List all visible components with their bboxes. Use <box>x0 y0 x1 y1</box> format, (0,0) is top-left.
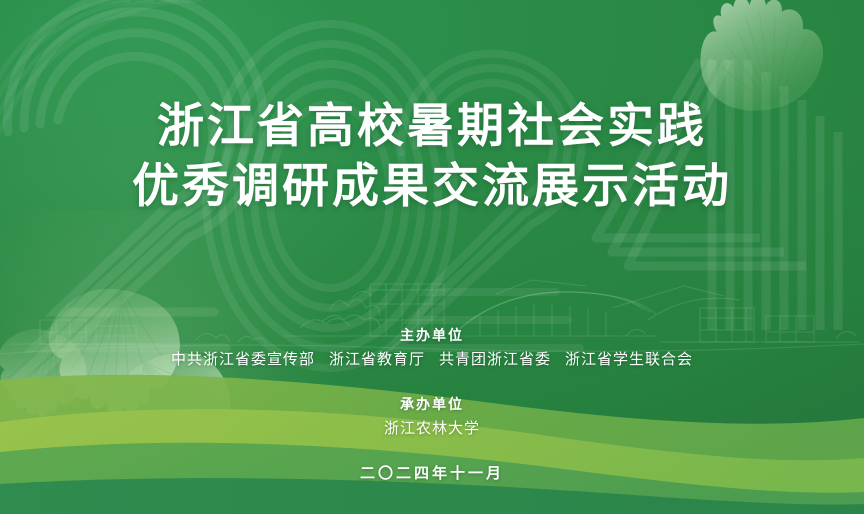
organizer-list: 中共浙江省委宣传部浙江省教育厅共青团浙江省委浙江省学生联合会 <box>0 348 864 372</box>
title-line-1: 浙江省高校暑期社会实践 <box>0 96 864 156</box>
poster-title: 浙江省高校暑期社会实践 优秀调研成果交流展示活动 <box>0 96 864 216</box>
organizer-item: 浙江省学生联合会 <box>565 351 693 368</box>
organizer-item: 浙江省教育厅 <box>329 351 425 368</box>
poster-canvas: 浙江省高校暑期社会实践 优秀调研成果交流展示活动 主办单位 中共浙江省委宣传部浙… <box>0 0 864 514</box>
event-date: 二〇二四年十一月 <box>0 463 864 485</box>
credits-spacer <box>0 372 864 394</box>
credits-block: 主办单位 中共浙江省委宣传部浙江省教育厅共青团浙江省委浙江省学生联合会 承办单位… <box>0 325 864 485</box>
host-name: 浙江农林大学 <box>0 417 864 441</box>
organizer-item: 中共浙江省委宣传部 <box>171 351 315 368</box>
organizer-item: 共青团浙江省委 <box>439 351 551 368</box>
poster-content: 浙江省高校暑期社会实践 优秀调研成果交流展示活动 主办单位 中共浙江省委宣传部浙… <box>0 0 864 514</box>
organizer-heading: 主办单位 <box>0 325 864 345</box>
title-line-2: 优秀调研成果交流展示活动 <box>0 156 864 216</box>
host-heading: 承办单位 <box>0 394 864 414</box>
